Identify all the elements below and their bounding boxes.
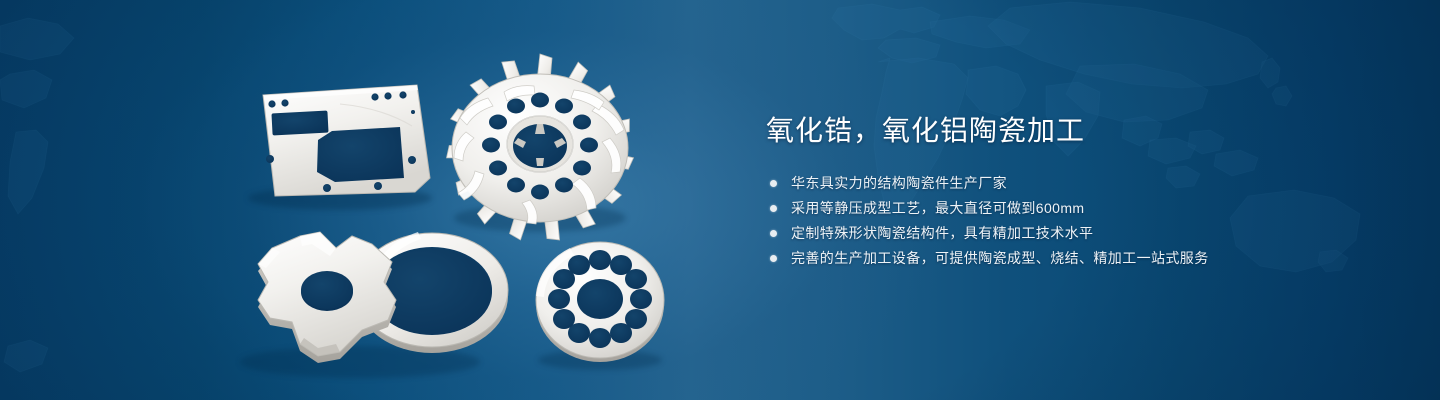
ceramic-cross-plate [258, 232, 396, 363]
list-item: 采用等静压成型工艺，最大直径可做到600mm [770, 197, 1386, 219]
list-item: 华东具实力的结构陶瓷件生产厂家 [770, 172, 1386, 194]
bullet-dot-icon [770, 180, 777, 187]
list-item-label: 采用等静压成型工艺，最大直径可做到600mm [791, 198, 1084, 218]
banner-copy: 氧化锆，氧化铝陶瓷加工 华东具实力的结构陶瓷件生产厂家 采用等静压成型工艺，最大… [766, 112, 1386, 272]
list-item: 定制特殊形状陶瓷结构件，具有精加工技术水平 [770, 222, 1386, 244]
ceramic-base-plate [248, 85, 432, 210]
list-item-label: 完善的生产加工设备，可提供陶瓷成型、烧结、精加工一站式服务 [791, 248, 1209, 268]
bullet-dot-icon [770, 205, 777, 212]
ceramic-perforated-ring [536, 242, 664, 370]
ceramic-cross-plate-group [240, 232, 508, 378]
list-item-label: 华东具实力的结构陶瓷件生产厂家 [791, 173, 1007, 193]
bullet-dot-icon [770, 230, 777, 237]
feature-list: 华东具实力的结构陶瓷件生产厂家 采用等静压成型工艺，最大直径可做到600mm 定… [770, 172, 1386, 269]
list-item: 完善的生产加工设备，可提供陶瓷成型、烧结、精加工一站式服务 [770, 247, 1386, 269]
hero-banner: 氧化锆，氧化铝陶瓷加工 华东具实力的结构陶瓷件生产厂家 采用等静压成型工艺，最大… [0, 0, 1440, 400]
list-item-label: 定制特殊形状陶瓷结构件，具有精加工技术水平 [791, 223, 1093, 243]
ceramic-impeller-disc [445, 54, 634, 242]
page-title: 氧化锆，氧化铝陶瓷加工 [766, 112, 1386, 150]
ceramic-products-image [0, 0, 760, 400]
bullet-dot-icon [770, 255, 777, 262]
